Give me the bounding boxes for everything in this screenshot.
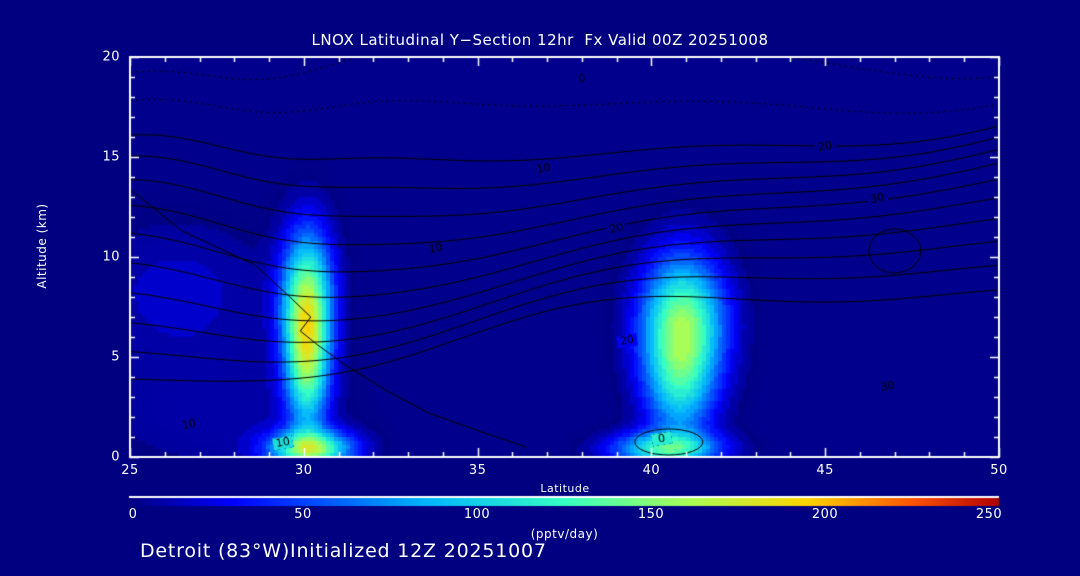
figure-root: LNOX Latitudinal Y−Section 12hr Fx Valid… [0,0,1080,576]
page-title: LNOX Latitudinal Y−Section 12hr Fx Valid… [0,33,1080,48]
y-tick-label: 5 [84,351,120,364]
colorbar-tick-label: 100 [464,508,490,521]
figure-caption: Detroit (83°W)Initialized 12Z 20251007 [140,542,547,561]
colorbar-tick-label: 0 [129,508,138,521]
y-axis-title: Altitude (km) [36,176,48,316]
y-tick-label: 10 [84,251,120,264]
y-tick-label: 15 [84,151,120,164]
colorbar-tick-label: 150 [638,508,664,521]
y-tick-label: 20 [84,51,120,64]
y-tick-label: 0 [84,451,120,464]
x-tick-label: 45 [816,464,834,477]
x-tick-label: 50 [990,464,1008,477]
x-axis-title: Latitude [130,483,1000,494]
colorbar-tick-label: 250 [976,508,1002,521]
colorbar-tick-label: 50 [294,508,312,521]
x-tick-label: 40 [643,464,661,477]
x-tick-label: 25 [121,464,139,477]
colorbar-unit-label: (pptv/day) [129,528,1000,540]
x-tick-label: 35 [469,464,487,477]
x-tick-label: 30 [295,464,313,477]
colorbar-tick-label: 200 [812,508,838,521]
